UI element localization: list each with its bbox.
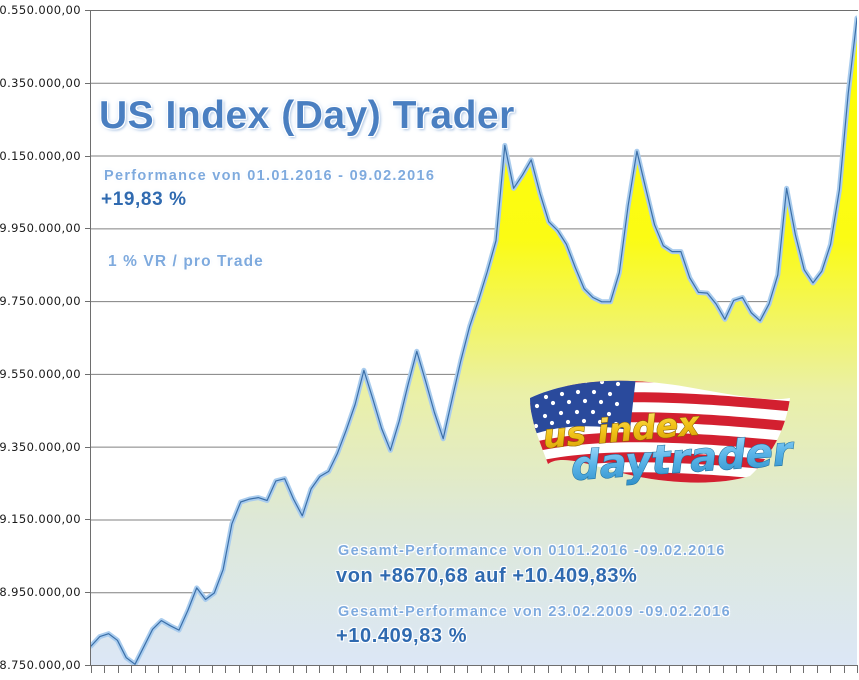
y-axis-label: 10.150.000,00 <box>0 149 81 163</box>
x-axis-tick <box>172 666 173 673</box>
total-performance-value-2: +10.409,83 % <box>336 625 467 648</box>
x-axis-tick <box>387 666 388 673</box>
x-axis-tick <box>373 666 374 673</box>
x-axis-tick <box>319 666 320 673</box>
x-axis-tick <box>467 666 468 673</box>
x-axis-tick <box>104 666 105 673</box>
x-axis-tick <box>360 666 361 673</box>
x-axis-tick <box>615 666 616 673</box>
page-title: US Index (Day) Trader <box>99 94 515 138</box>
y-axis-label: 8.750.000,00 <box>0 658 81 672</box>
x-axis-tick <box>655 666 656 673</box>
x-axis-tick <box>521 666 522 673</box>
x-axis-tick <box>629 666 630 673</box>
x-axis-tick <box>749 666 750 673</box>
y-axis-labels: 10.550.000,0010.350.000,0010.150.000,009… <box>0 0 86 680</box>
y-axis-label: 9.350.000,00 <box>0 440 81 454</box>
x-axis-tick <box>400 666 401 673</box>
x-axis-tick <box>575 666 576 673</box>
x-axis-tick <box>279 666 280 673</box>
x-axis-tick <box>561 666 562 673</box>
x-axis-tick <box>414 666 415 673</box>
x-axis-tick <box>158 666 159 673</box>
x-axis-tick <box>534 666 535 673</box>
x-axis-tick <box>481 666 482 673</box>
total-performance-value-1: von +8670,68 auf +10.409,83% <box>336 565 637 588</box>
x-axis-tick <box>91 666 92 673</box>
x-axis-tick <box>508 666 509 673</box>
y-axis-label: 9.750.000,00 <box>0 294 81 308</box>
y-axis-label: 8.950.000,00 <box>0 585 81 599</box>
y-axis-label: 9.950.000,00 <box>0 221 81 235</box>
x-axis-tick <box>293 666 294 673</box>
x-axis-tick <box>306 666 307 673</box>
x-axis-tick <box>669 666 670 673</box>
x-axis-tick <box>790 666 791 673</box>
x-axis-tick <box>776 666 777 673</box>
x-axis-tick <box>346 666 347 673</box>
x-axis-tick <box>696 666 697 673</box>
x-axis-tick <box>642 666 643 673</box>
x-axis-tick <box>145 666 146 673</box>
total-performance-period-label-1: Gesamt-Performance von 0101.2016 -09.02.… <box>338 543 726 559</box>
x-axis-tick <box>494 666 495 673</box>
x-axis-tick <box>803 666 804 673</box>
x-axis-tick <box>118 666 119 673</box>
x-axis-tick <box>736 666 737 673</box>
x-axis-tick <box>830 666 831 673</box>
x-axis-tick <box>588 666 589 673</box>
x-axis-tick <box>709 666 710 673</box>
x-axis-tick <box>440 666 441 673</box>
x-axis-tick <box>857 666 858 673</box>
x-axis-tick <box>454 666 455 673</box>
x-axis-tick <box>333 666 334 673</box>
logo-svg: us index daytrader <box>518 368 848 493</box>
x-axis-tick <box>252 666 253 673</box>
x-axis-tick <box>239 666 240 673</box>
y-axis-label: 10.550.000,00 <box>0 3 81 17</box>
x-axis-tick <box>682 666 683 673</box>
total-performance-period-label-2: Gesamt-Performance von 23.02.2009 -09.02… <box>338 604 731 620</box>
chart-page: 10.550.000,0010.350.000,0010.150.000,009… <box>0 0 859 680</box>
x-axis-tick <box>817 666 818 673</box>
x-axis-tick <box>266 666 267 673</box>
risk-per-trade-label: 1 % VR / pro Trade <box>108 253 264 271</box>
x-axis-tick <box>212 666 213 673</box>
y-axis-label: 9.550.000,00 <box>0 367 81 381</box>
x-axis-tick <box>602 666 603 673</box>
y-axis-label: 9.150.000,00 <box>0 512 81 526</box>
x-axis-tick <box>844 666 845 673</box>
performance-value: +19,83 % <box>101 189 187 211</box>
x-axis-tick <box>723 666 724 673</box>
performance-period-label: Performance von 01.01.2016 - 09.02.2016 <box>104 168 435 184</box>
y-axis-label: 10.350.000,00 <box>0 76 81 90</box>
us-index-daytrader-logo: us index daytrader <box>518 368 848 493</box>
x-axis-tick <box>548 666 549 673</box>
x-axis-ticks <box>91 666 858 675</box>
x-axis-tick <box>763 666 764 673</box>
x-axis-tick <box>225 666 226 673</box>
x-axis-tick <box>427 666 428 673</box>
x-axis-tick <box>185 666 186 673</box>
x-axis-tick <box>131 666 132 673</box>
x-axis-tick <box>199 666 200 673</box>
